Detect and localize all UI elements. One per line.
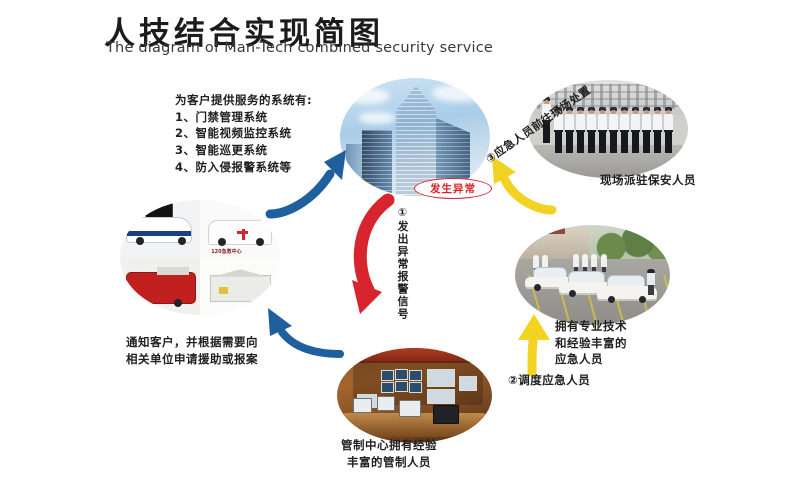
arrow-blue-to-building	[268, 140, 360, 224]
step2-label: ②调度应急人员	[508, 372, 590, 389]
guards-caption: 现场派驻保安人员	[600, 172, 696, 189]
arrow-blue-to-emergency	[252, 298, 344, 360]
status-badge-abnormal: 发生异常	[414, 178, 492, 199]
arrow-yellow-to-cars	[512, 312, 558, 376]
control-room-photo	[337, 348, 492, 443]
patrol-cars-photo	[515, 225, 670, 325]
notify-client-caption: 通知客户，并根据需要向 相关单位申请援助或报案	[126, 334, 258, 367]
control-center-caption: 管制中心拥有经验 丰富的管制人员	[341, 437, 437, 470]
step1-label: ①发出异常报警信号	[394, 206, 410, 321]
page-title-en: The diagram of Man-Tech combined securit…	[106, 40, 493, 56]
responders-caption: 拥有专业技术 和经验丰富的 应急人员	[555, 318, 627, 368]
status-badge-label: 发生异常	[430, 181, 476, 196]
diagram-canvas: 人技结合实现简图 The diagram of Man-Tech combine…	[0, 0, 802, 477]
ambulance-center-label: 120急救中心	[211, 248, 241, 255]
